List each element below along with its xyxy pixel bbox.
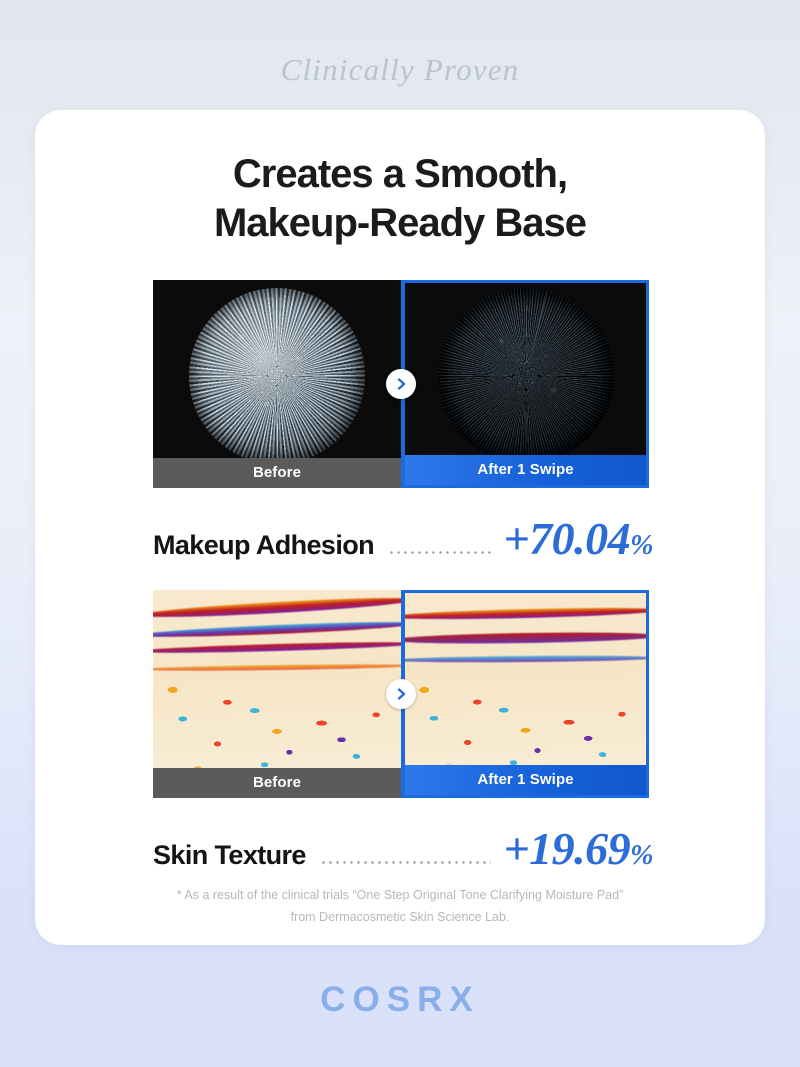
after-label: After 1 Swipe — [405, 765, 646, 795]
footnote-line-2: from Dermacosmetic Skin Science Lab. — [291, 910, 510, 924]
before-label: Before — [153, 768, 401, 798]
leader-dots — [388, 551, 491, 554]
before-image-makeup-adhesion — [153, 280, 401, 488]
before-label: Before — [153, 458, 401, 488]
texture-base — [153, 590, 401, 798]
eyebrow-text: Clinically Proven — [0, 52, 800, 88]
chevron-right-icon — [386, 369, 416, 399]
leader-dots — [320, 861, 492, 864]
after-pane-skin-texture: After 1 Swipe — [401, 590, 649, 798]
brand-logo: COSRX — [0, 980, 800, 1020]
stat-number: +19.69 — [503, 823, 630, 874]
stat-row-skin-texture: Skin Texture +19.69% — [153, 822, 653, 875]
stat-row-makeup-adhesion: Makeup Adhesion +70.04% — [153, 512, 653, 565]
stat-label-makeup-adhesion: Makeup Adhesion — [153, 530, 374, 561]
stat-unit: % — [630, 840, 653, 871]
after-pane-makeup-adhesion: After 1 Swipe — [401, 280, 649, 488]
content-card: Creates a Smooth, Makeup-Ready Base Befo… — [35, 110, 765, 945]
chevron-right-icon — [386, 679, 416, 709]
page-title: Creates a Smooth, Makeup-Ready Base — [35, 150, 765, 248]
stat-value-makeup-adhesion: +70.04% — [503, 512, 653, 565]
stat-unit: % — [630, 530, 653, 561]
footnote: * As a result of the clinical trials “On… — [95, 885, 705, 929]
stat-label-skin-texture: Skin Texture — [153, 840, 306, 871]
before-pane-skin-texture: Before — [153, 590, 401, 798]
stat-value-skin-texture: +19.69% — [503, 822, 653, 875]
headline-line-1: Creates a Smooth, — [233, 152, 567, 196]
after-label: After 1 Swipe — [405, 455, 646, 485]
before-image-skin-texture — [153, 590, 401, 798]
stat-number: +70.04 — [503, 513, 630, 564]
before-pane-makeup-adhesion: Before — [153, 280, 401, 488]
headline-line-2: Makeup-Ready Base — [214, 201, 586, 245]
footnote-line-1: * As a result of the clinical trials “On… — [177, 888, 624, 902]
comparison-makeup-adhesion: Before After 1 Swipe — [153, 280, 649, 488]
comparison-skin-texture: Before After 1 Swipe — [153, 590, 649, 798]
infographic-page: Clinically Proven Creates a Smooth, Make… — [0, 0, 800, 1067]
